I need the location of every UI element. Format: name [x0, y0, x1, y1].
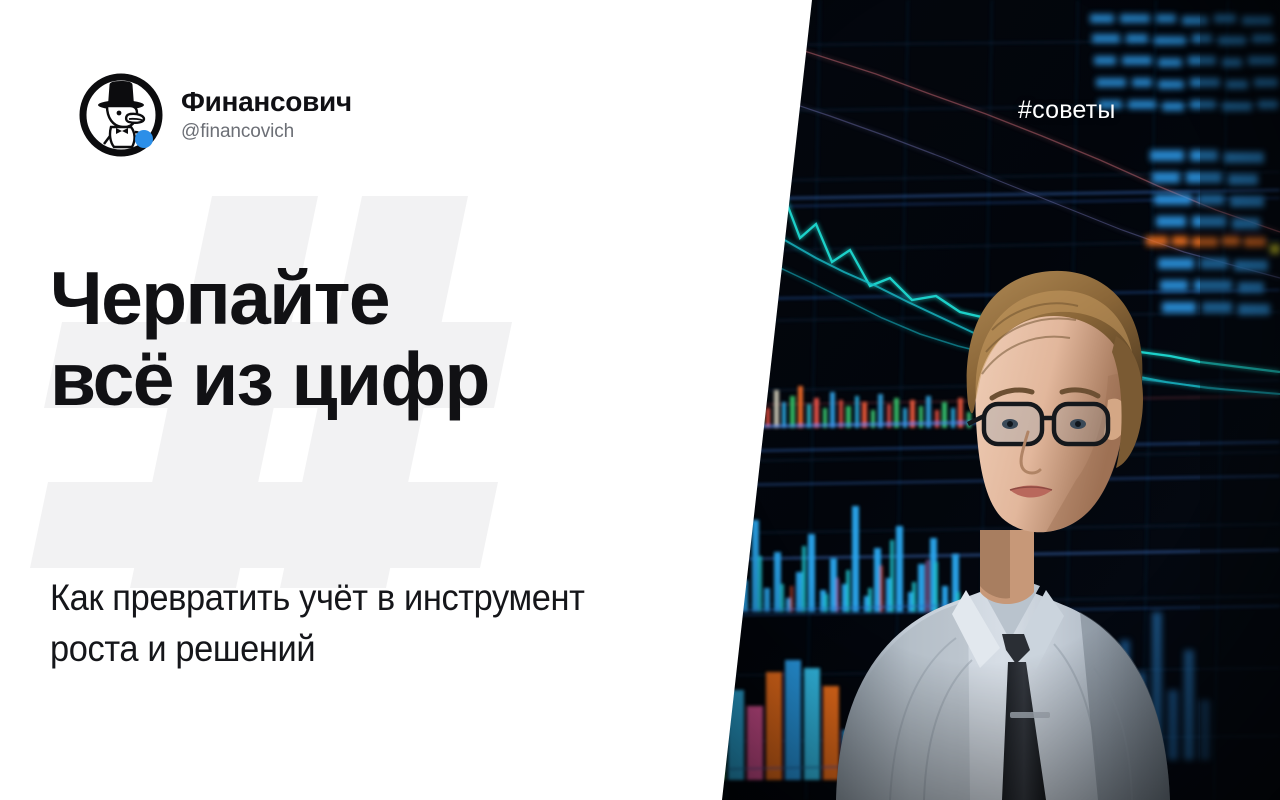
banner-canvas: Финансович @financovich Черпайте всё из … — [0, 0, 1280, 800]
brand-name: Финансович — [181, 86, 352, 118]
duck-tophat-avatar-icon — [78, 72, 164, 158]
brand-block: Финансович @financovich — [78, 72, 352, 158]
page-subtitle: Как превратить учёт в инструмент роста и… — [50, 572, 692, 674]
content-panel: Финансович @financovich Черпайте всё из … — [0, 0, 830, 800]
brand-handle: @financovich — [181, 120, 352, 144]
avatar — [78, 72, 164, 158]
photo-hashtag-label: #советы — [1018, 96, 1115, 125]
page-title: Черпайте всё из цифр — [50, 258, 700, 420]
brand-text: Финансович @financovich — [181, 86, 352, 144]
blue-dot-badge-icon — [135, 130, 153, 148]
